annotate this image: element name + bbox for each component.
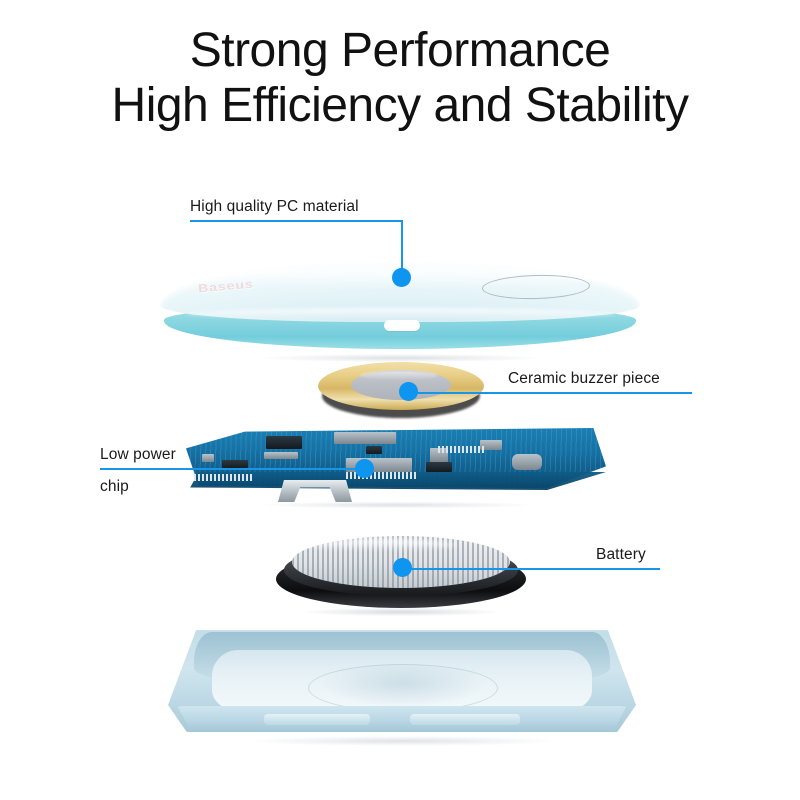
callout-label-low-power-chip-line1: Low power <box>100 446 176 464</box>
pcb-shadow <box>196 500 596 510</box>
infographic-canvas: Strong Performance High Efficiency and S… <box>0 0 800 800</box>
bottom-shell-cavity-recess <box>308 664 498 712</box>
buzzer-highlight <box>360 371 438 380</box>
pcb-chip <box>266 436 302 449</box>
pcb-component <box>426 462 452 472</box>
headline-line-1: Strong Performance <box>0 24 800 79</box>
pcb-component <box>512 454 542 470</box>
headline-line-2: High Efficiency and Stability <box>0 79 800 134</box>
callout-label-pc-material: High quality PC material <box>190 198 359 216</box>
callout-label-battery: Battery <box>596 546 646 564</box>
product-part-pcb-board <box>186 428 606 500</box>
callout-label-low-power-chip-line2: chip <box>100 478 129 496</box>
bottom-shell-ridge <box>264 714 370 725</box>
pcb-component <box>264 452 298 459</box>
pcb-pads <box>194 474 254 481</box>
callout-dot-ceramic-buzzer <box>399 382 418 401</box>
bottom-shell-ridge <box>410 714 520 725</box>
callout-dot-pc-material <box>392 268 411 287</box>
leader-line-pc-material-horizontal <box>190 220 403 222</box>
callout-dot-battery <box>393 558 412 577</box>
bottom-shell-lip <box>168 706 636 732</box>
top-shell-band-shine <box>186 308 616 320</box>
leader-line-low-power-chip <box>100 468 366 470</box>
battery-clip <box>278 480 352 502</box>
callout-dot-low-power-chip <box>355 459 374 478</box>
battery-highlight <box>306 539 456 551</box>
page-title: Strong Performance High Efficiency and S… <box>0 24 800 133</box>
pcb-pads <box>438 446 484 453</box>
pcb-connector <box>334 432 396 444</box>
pcb-component <box>202 454 214 462</box>
callout-label-ceramic-buzzer: Ceramic buzzer piece <box>508 370 660 388</box>
strap-slot <box>384 320 420 331</box>
leader-line-battery <box>402 568 660 570</box>
pcb-component <box>366 446 382 454</box>
product-part-bottom-shell <box>168 628 636 740</box>
leader-line-ceramic-buzzer <box>408 392 692 394</box>
